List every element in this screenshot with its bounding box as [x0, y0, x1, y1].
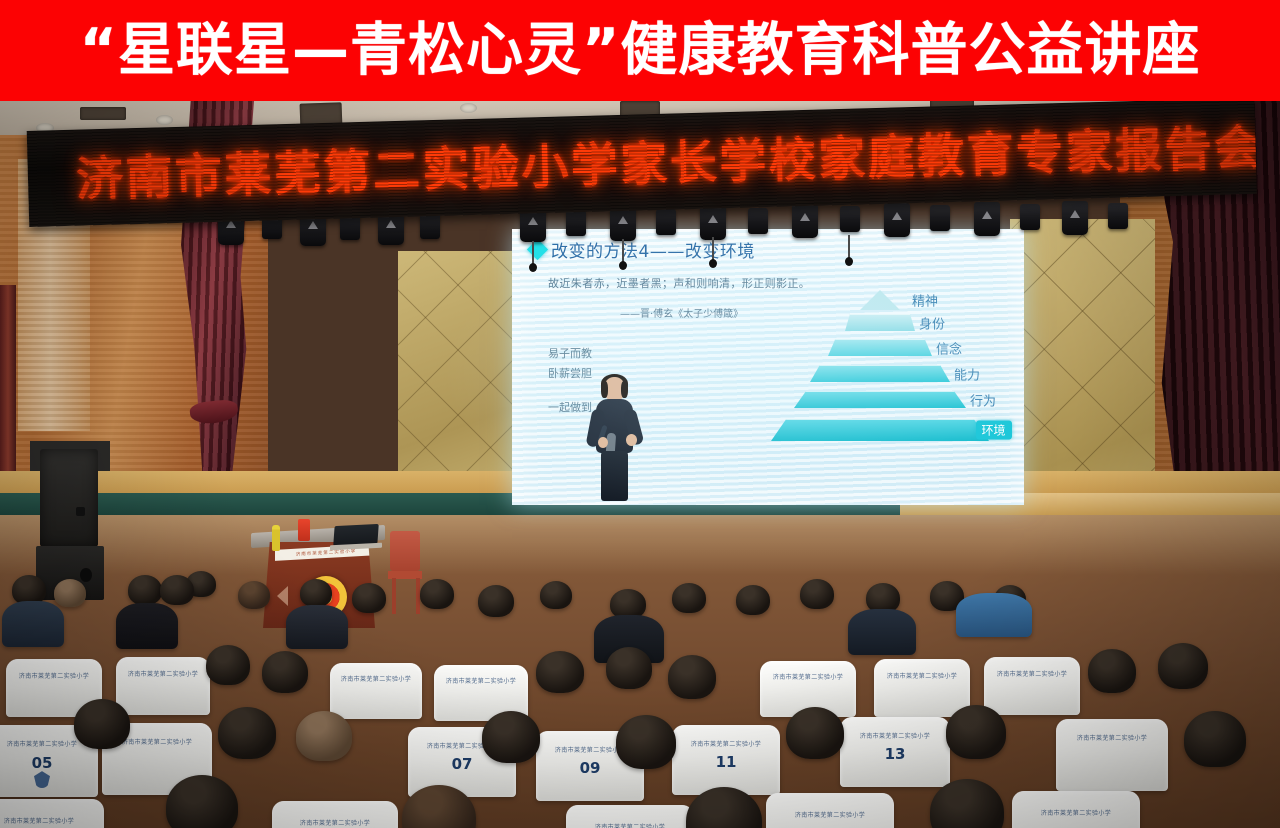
chair-seat: 济南市莱芜第二实验小学 [1056, 719, 1168, 791]
stage-light-icon [656, 209, 676, 235]
audience-head [218, 707, 276, 759]
audience-head [668, 655, 716, 699]
audience-head [536, 651, 584, 693]
chair-seat: 济南市莱芜第二实验小学 [874, 659, 970, 717]
audience-shoulders [116, 603, 178, 649]
chair-school-text: 济南市莱芜第二实验小学 [1041, 808, 1111, 817]
pyramid-tier: 身份 [845, 314, 915, 331]
pyramid-tier-shape [828, 339, 932, 356]
pyramid-tier-shape [845, 314, 915, 331]
stage-wall-gold-left [398, 251, 518, 491]
stage-light-icon [974, 202, 1000, 236]
stage-light-icon [610, 207, 636, 241]
chair-school-text: 济南市莱芜第二实验小学 [691, 739, 761, 748]
stage-light-icon [748, 208, 768, 234]
audience-head [616, 715, 676, 769]
pyramid-tier-label: 行为 [970, 390, 996, 409]
pyramid-tier: 信念 [828, 339, 932, 356]
stage-light-icon [884, 203, 910, 237]
slide-source-text: ——晋·傅玄《太子少傅箴》 [620, 305, 743, 320]
pyramid-tier: 精神 [858, 291, 902, 308]
pyramid-tier: 行为 [794, 391, 966, 408]
chair-seat: 济南市莱芜第二实验小学 09 [566, 805, 694, 828]
event-title-banner: “星联星—青松心灵”健康教育科普公益讲座 [0, 0, 1280, 101]
hanging-microphone-icon [532, 241, 534, 265]
chair-seat: 济南市莱芜第二实验小学 11 [766, 793, 894, 828]
chair-seat-number: 07 [452, 755, 473, 773]
audience-seating: 济南市莱芜第二实验小学 济南市莱芜第二实验小学 济南市莱芜第二实验小学 济南市莱… [0, 475, 1280, 828]
hall-interior: 改变的方法4——改变环境 故近朱者赤，近墨者黑；声和则响清，形正则影正。 ——晋… [0, 101, 1280, 828]
audience-shoulders [286, 605, 348, 649]
ceiling-downlight [156, 115, 173, 125]
hanging-microphone-icon [622, 239, 624, 263]
chair-seat: 济南市莱芜第二实验小学 11 [672, 725, 780, 795]
pyramid-tier-label: 身份 [919, 313, 945, 332]
audience-head [946, 705, 1006, 759]
pyramid-tier-label: 信念 [936, 338, 962, 357]
chair-school-text: 济南市莱芜第二实验小学 [446, 676, 516, 685]
chair-school-text: 济南市莱芜第二实验小学 [773, 672, 843, 681]
chair-seat: 济南市莱芜第二实验小学 07 [272, 801, 398, 828]
chair-school-text: 济南市莱芜第二实验小学 [341, 674, 411, 683]
chair-seat: 济南市莱芜第二实验小学 05 [0, 799, 104, 828]
audience-head [296, 711, 352, 761]
chair-seat: 济南市莱芜第二实验小学 [116, 657, 210, 715]
ceiling-downlight [460, 103, 477, 113]
chair-school-text: 济南市莱芜第二实验小学 [795, 810, 865, 819]
chair-school-text: 济南市莱芜第二实验小学 [595, 822, 665, 828]
chair-school-text: 济南市莱芜第二实验小学 [128, 669, 198, 678]
pyramid-tier-shape [860, 290, 900, 310]
audience-head [206, 645, 250, 685]
audience-head [478, 585, 514, 617]
stage-light-icon [566, 210, 586, 236]
stage-light-icon [1108, 203, 1128, 229]
audience-head [238, 581, 270, 609]
chair-school-text: 济南市莱芜第二实验小学 [555, 745, 625, 754]
audience-head [540, 581, 572, 609]
audience-head [166, 775, 238, 828]
led-sign-text: 济南市莱芜第二实验小学家长学校家庭教育专家报告会 [75, 124, 1256, 203]
pyramid-tier-shape [771, 419, 989, 441]
lecture-hall-photo: “星联星—青松心灵”健康教育科普公益讲座 [0, 0, 1280, 828]
audience-head [74, 699, 130, 749]
audience-head [786, 707, 844, 759]
pyramid-tier-shape [810, 365, 950, 382]
chair-seat-number: 05 [32, 754, 53, 772]
chair-school-text: 济南市莱芜第二实验小学 [1077, 733, 1147, 742]
stage-light-icon [420, 213, 440, 239]
chair-seat-number: 11 [716, 753, 737, 771]
chair-school-text: 济南市莱芜第二实验小学 [997, 669, 1067, 678]
audience-head [736, 585, 770, 615]
stage-light-icon [930, 205, 950, 231]
chair-school-text: 济南市莱芜第二实验小学 [7, 739, 77, 748]
chair-school-text: 济南市莱芜第二实验小学 [19, 671, 89, 680]
audience-head [672, 583, 706, 613]
event-title-text: “星联星—青松心灵”健康教育科普公益讲座 [80, 22, 1201, 79]
speaker-hand-right [626, 434, 637, 446]
stage-light-icon [700, 206, 726, 240]
diamond-bullet-icon [527, 239, 548, 260]
audience-head [800, 579, 834, 609]
audience-head [300, 579, 332, 607]
pyramid-tier-label: 精神 [912, 290, 938, 309]
audience-head [482, 711, 540, 763]
chair-school-text: 济南市莱芜第二实验小学 [122, 737, 192, 746]
chair-school-text: 济南市莱芜第二实验小学 [887, 671, 957, 680]
audience-head [352, 583, 386, 613]
audience-head [1184, 711, 1246, 767]
slide-title: 改变的方法4——改变环境 [530, 237, 755, 262]
ceiling-vent [80, 107, 126, 120]
audience-head [128, 575, 162, 605]
audience-head [420, 579, 454, 609]
pyramid-tier-shape [794, 391, 966, 408]
photographer-head [160, 575, 194, 605]
slide-title-text: 改变的方法4——改变环境 [551, 237, 755, 262]
audience-shoulders [848, 609, 916, 655]
chair-seat: 济南市莱芜第二实验小学 [984, 657, 1080, 715]
projection-screen: 改变的方法4——改变环境 故近朱者赤，近墨者黑；声和则响清，形正则影正。 ——晋… [512, 229, 1024, 505]
chair-seat-number: 13 [885, 745, 906, 763]
audience-head [262, 651, 308, 693]
speaker-hair-side [621, 381, 628, 398]
speaker-hand-left [598, 437, 608, 448]
hanging-microphone-icon [712, 237, 714, 261]
pyramid-tier: 能力 [810, 365, 950, 382]
pyramid-tier-label: 能力 [954, 364, 980, 383]
pyramid-tier-label-highlight: 环境 [976, 421, 1012, 440]
chair-school-text: 济南市莱芜第二实验小学 [860, 731, 930, 740]
slide-bullet-item: 易子而教 [548, 345, 592, 361]
pyramid-tier: 环境 [771, 419, 989, 441]
chair-school-text: 济南市莱芜第二实验小学 [300, 818, 370, 827]
speaker-hair-side [601, 381, 608, 398]
stage-light-icon [840, 206, 860, 232]
chair-seat: 济南市莱芜第二实验小学 [1012, 791, 1140, 828]
stage-light-icon [1062, 201, 1088, 235]
logical-levels-pyramid: 精神 身份 信念 能力 行为 [760, 291, 1000, 481]
audience-shoulders [2, 601, 64, 647]
stage-light-icon [1020, 204, 1040, 230]
chair-seat-number: 09 [580, 759, 601, 777]
audience-head [1158, 643, 1208, 689]
hanging-microphone-icon [848, 235, 850, 259]
audience-shoulders [956, 593, 1032, 637]
audience-head [1088, 649, 1136, 693]
audience-head [54, 579, 86, 607]
stage-light-icon [792, 204, 818, 238]
chair-seat: 济南市莱芜第二实验小学 13 [840, 717, 950, 787]
chair-school-text: 济南市莱芜第二实验小学 [4, 816, 74, 825]
school-bird-logo-icon [34, 771, 50, 788]
chair-seat: 济南市莱芜第二实验小学 [330, 663, 422, 719]
slide-quote-text: 故近朱者赤，近墨者黑；声和则响清，形正则影正。 [548, 275, 810, 291]
audience-head [606, 647, 652, 689]
